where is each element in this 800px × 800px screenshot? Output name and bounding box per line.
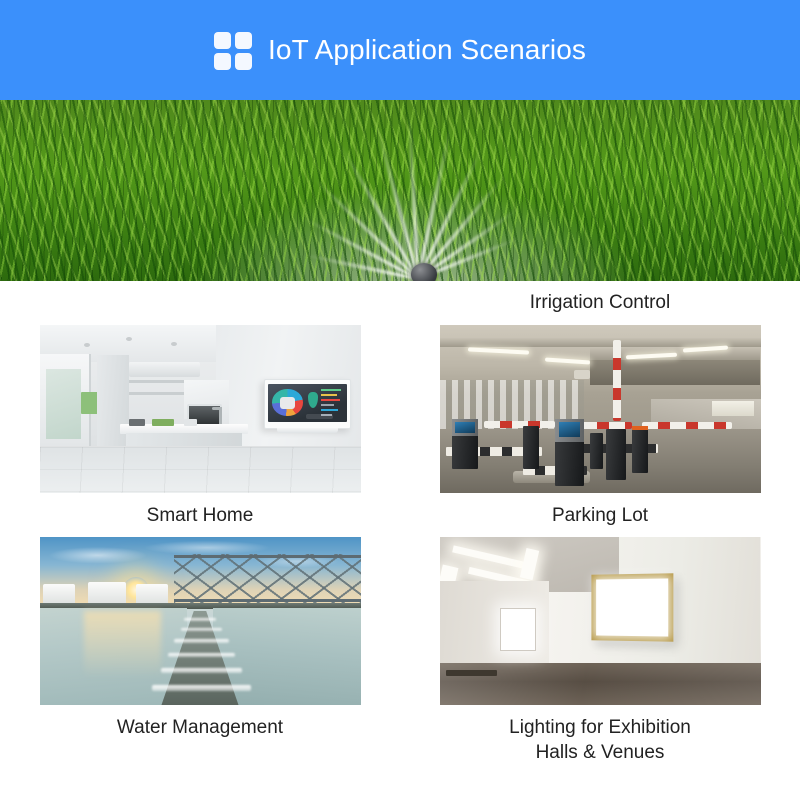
sprinkler-head [411,263,437,281]
kiosk-screen [455,422,475,433]
scenario-card-exhibition-lighting[interactable]: Lighting for Exhibition Halls & Venues [400,537,800,765]
illuminated-light-box [500,608,535,652]
grid-2x2-icon [214,32,252,70]
thumbnail-exhibition-lighting [440,537,761,705]
card-caption-parking-lot: Parking Lot [435,493,765,528]
grid-cell-top-left [214,32,231,49]
gold-picture-frame [592,573,674,642]
steel-truss-bridge [174,554,360,604]
parking-bollard [590,433,603,470]
scenario-card-grid: Smart Home [0,325,800,765]
boom-barrier [484,421,555,428]
thumbnail-water-management [40,537,361,705]
scenario-card-parking-lot[interactable]: Parking Lot [400,325,800,528]
grid-cell-bottom-right [235,53,252,70]
card-caption-smart-home: Smart Home [35,493,365,528]
card-caption-exhibition-lighting: Lighting for Exhibition Halls & Venues [435,705,765,765]
parking-bollard [606,429,625,479]
parking-kiosk [452,419,478,469]
caption-line-1: Lighting for Exhibition [435,715,765,740]
boom-barrier-raised [613,340,621,421]
smart-home-wall-panel [264,379,351,429]
shield-icon [308,392,318,408]
hero-image-irrigation [0,100,800,281]
page-title: IoT Application Scenarios [268,34,586,66]
scenario-card-water-management[interactable]: Water Management [0,537,400,765]
scenario-card-smart-home[interactable]: Smart Home [0,325,400,528]
hero-caption: Irrigation Control [400,292,800,314]
parking-bollard [632,429,648,473]
parking-kiosk [555,419,584,486]
parking-kiosk [523,426,539,470]
boom-barrier [642,422,732,429]
grid-cell-bottom-left [214,53,231,70]
caption-line-2: Halls & Venues [435,740,765,765]
kiosk-screen [559,422,581,437]
card-caption-water-management: Water Management [35,705,365,740]
thumbnail-smart-home [40,325,361,493]
grid-cell-top-right [235,32,252,49]
security-camera [574,370,590,379]
floor-bench [446,670,497,677]
page-header: IoT Application Scenarios [0,0,800,100]
thumbnail-parking-lot [440,325,761,493]
